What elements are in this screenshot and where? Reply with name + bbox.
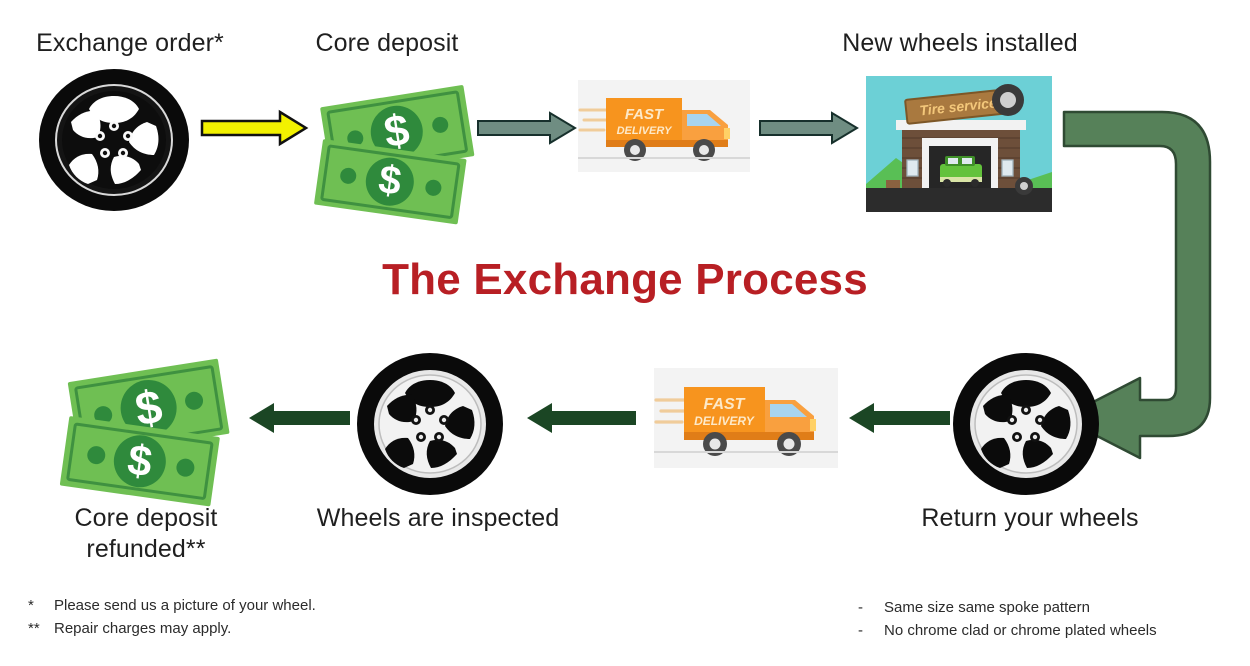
label-exchange-order: Exchange order* — [0, 28, 260, 59]
tire-service-shop-icon: Tire service — [866, 76, 1052, 212]
label-wheels-inspected: Wheels are inspected — [292, 503, 584, 534]
exchange-process-diagram: Exchange order* Core deposit New wheels … — [0, 0, 1250, 666]
footnote-bullet: - — [858, 596, 884, 619]
footnotes-left: * Please send us a picture of your wheel… — [28, 594, 548, 641]
footnote-mark: ** — [28, 617, 54, 640]
footnote-mark: * — [28, 594, 54, 617]
wheel-light-return-icon — [952, 352, 1100, 496]
arrow-return-to-truck-icon — [846, 402, 950, 434]
arrow-truck-to-inspection-icon — [524, 402, 636, 434]
delivery-truck-icon: FAST DELIVERY — [578, 80, 750, 172]
wheel-dark-icon — [38, 68, 190, 213]
footnote-item: ** Repair charges may apply. — [28, 617, 548, 640]
label-new-wheels-installed: New wheels installed — [810, 28, 1110, 59]
svg-text:DELIVERY: DELIVERY — [617, 125, 673, 137]
footnote-item: - Same size same spoke pattern — [858, 596, 1250, 619]
footnotes-right: - Same size same spoke pattern - No chro… — [858, 596, 1250, 643]
money-refund-icon: $ $ — [58, 348, 238, 488]
wheel-light-inspected-icon — [356, 352, 504, 496]
svg-text:FAST: FAST — [704, 396, 746, 413]
footnote-item: - No chrome clad or chrome plated wheels — [858, 619, 1250, 642]
footnote-item: * Please send us a picture of your wheel… — [28, 594, 548, 617]
page-title: The Exchange Process — [275, 255, 975, 305]
svg-text:DELIVERY: DELIVERY — [694, 414, 755, 428]
footnote-text: Please send us a picture of your wheel. — [54, 594, 316, 617]
label-core-deposit: Core deposit — [282, 28, 492, 59]
label-core-deposit-refunded: Core deposit refunded** — [18, 503, 274, 566]
arrow-order-to-deposit-icon — [200, 110, 310, 146]
svg-text:FAST: FAST — [625, 106, 665, 123]
arrow-truck-to-shop-icon — [760, 112, 860, 144]
footnote-text: No chrome clad or chrome plated wheels — [884, 619, 1157, 642]
label-return-your-wheels: Return your wheels — [890, 503, 1170, 534]
delivery-truck-return-icon: FAST DELIVERY — [654, 368, 838, 468]
arrow-inspection-to-refund-icon — [246, 402, 350, 434]
footnote-text: Same size same spoke pattern — [884, 596, 1090, 619]
footnote-text: Repair charges may apply. — [54, 617, 231, 640]
money-icon: $ $ — [310, 72, 480, 207]
arrow-deposit-to-truck-icon — [478, 112, 578, 144]
footnote-bullet: - — [858, 619, 884, 642]
